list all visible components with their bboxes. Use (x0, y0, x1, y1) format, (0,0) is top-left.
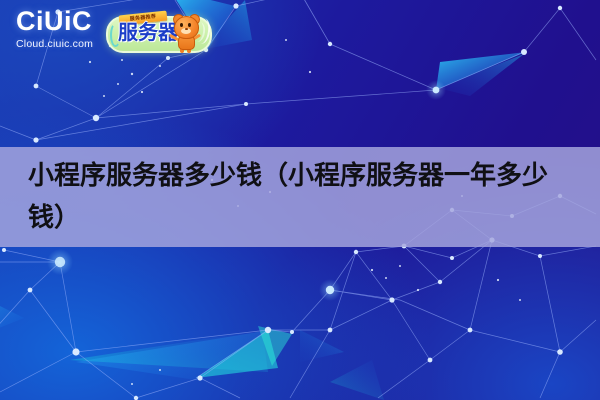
page-title: 小程序服务器多少钱（小程序服务器一年多少钱） (0, 155, 600, 239)
tiger-mascot-icon (168, 12, 208, 54)
brand-logo[interactable]: CiUiC Cloud.ciuic.com (16, 6, 112, 51)
server-badge: 服务器推荐 服务器 (106, 13, 208, 53)
mascot-nose (185, 28, 188, 30)
mascot-eye-left (180, 23, 183, 27)
banner-canvas: CiUiC Cloud.ciuic.com 服务器推荐 服务器 (0, 0, 600, 400)
mascot-eye-right (188, 23, 191, 27)
brand-name: CiUiC (16, 6, 112, 36)
brand-domain: Cloud.ciuic.com (16, 37, 112, 51)
title-band: 小程序服务器多少钱（小程序服务器一年多少钱） (0, 147, 600, 247)
